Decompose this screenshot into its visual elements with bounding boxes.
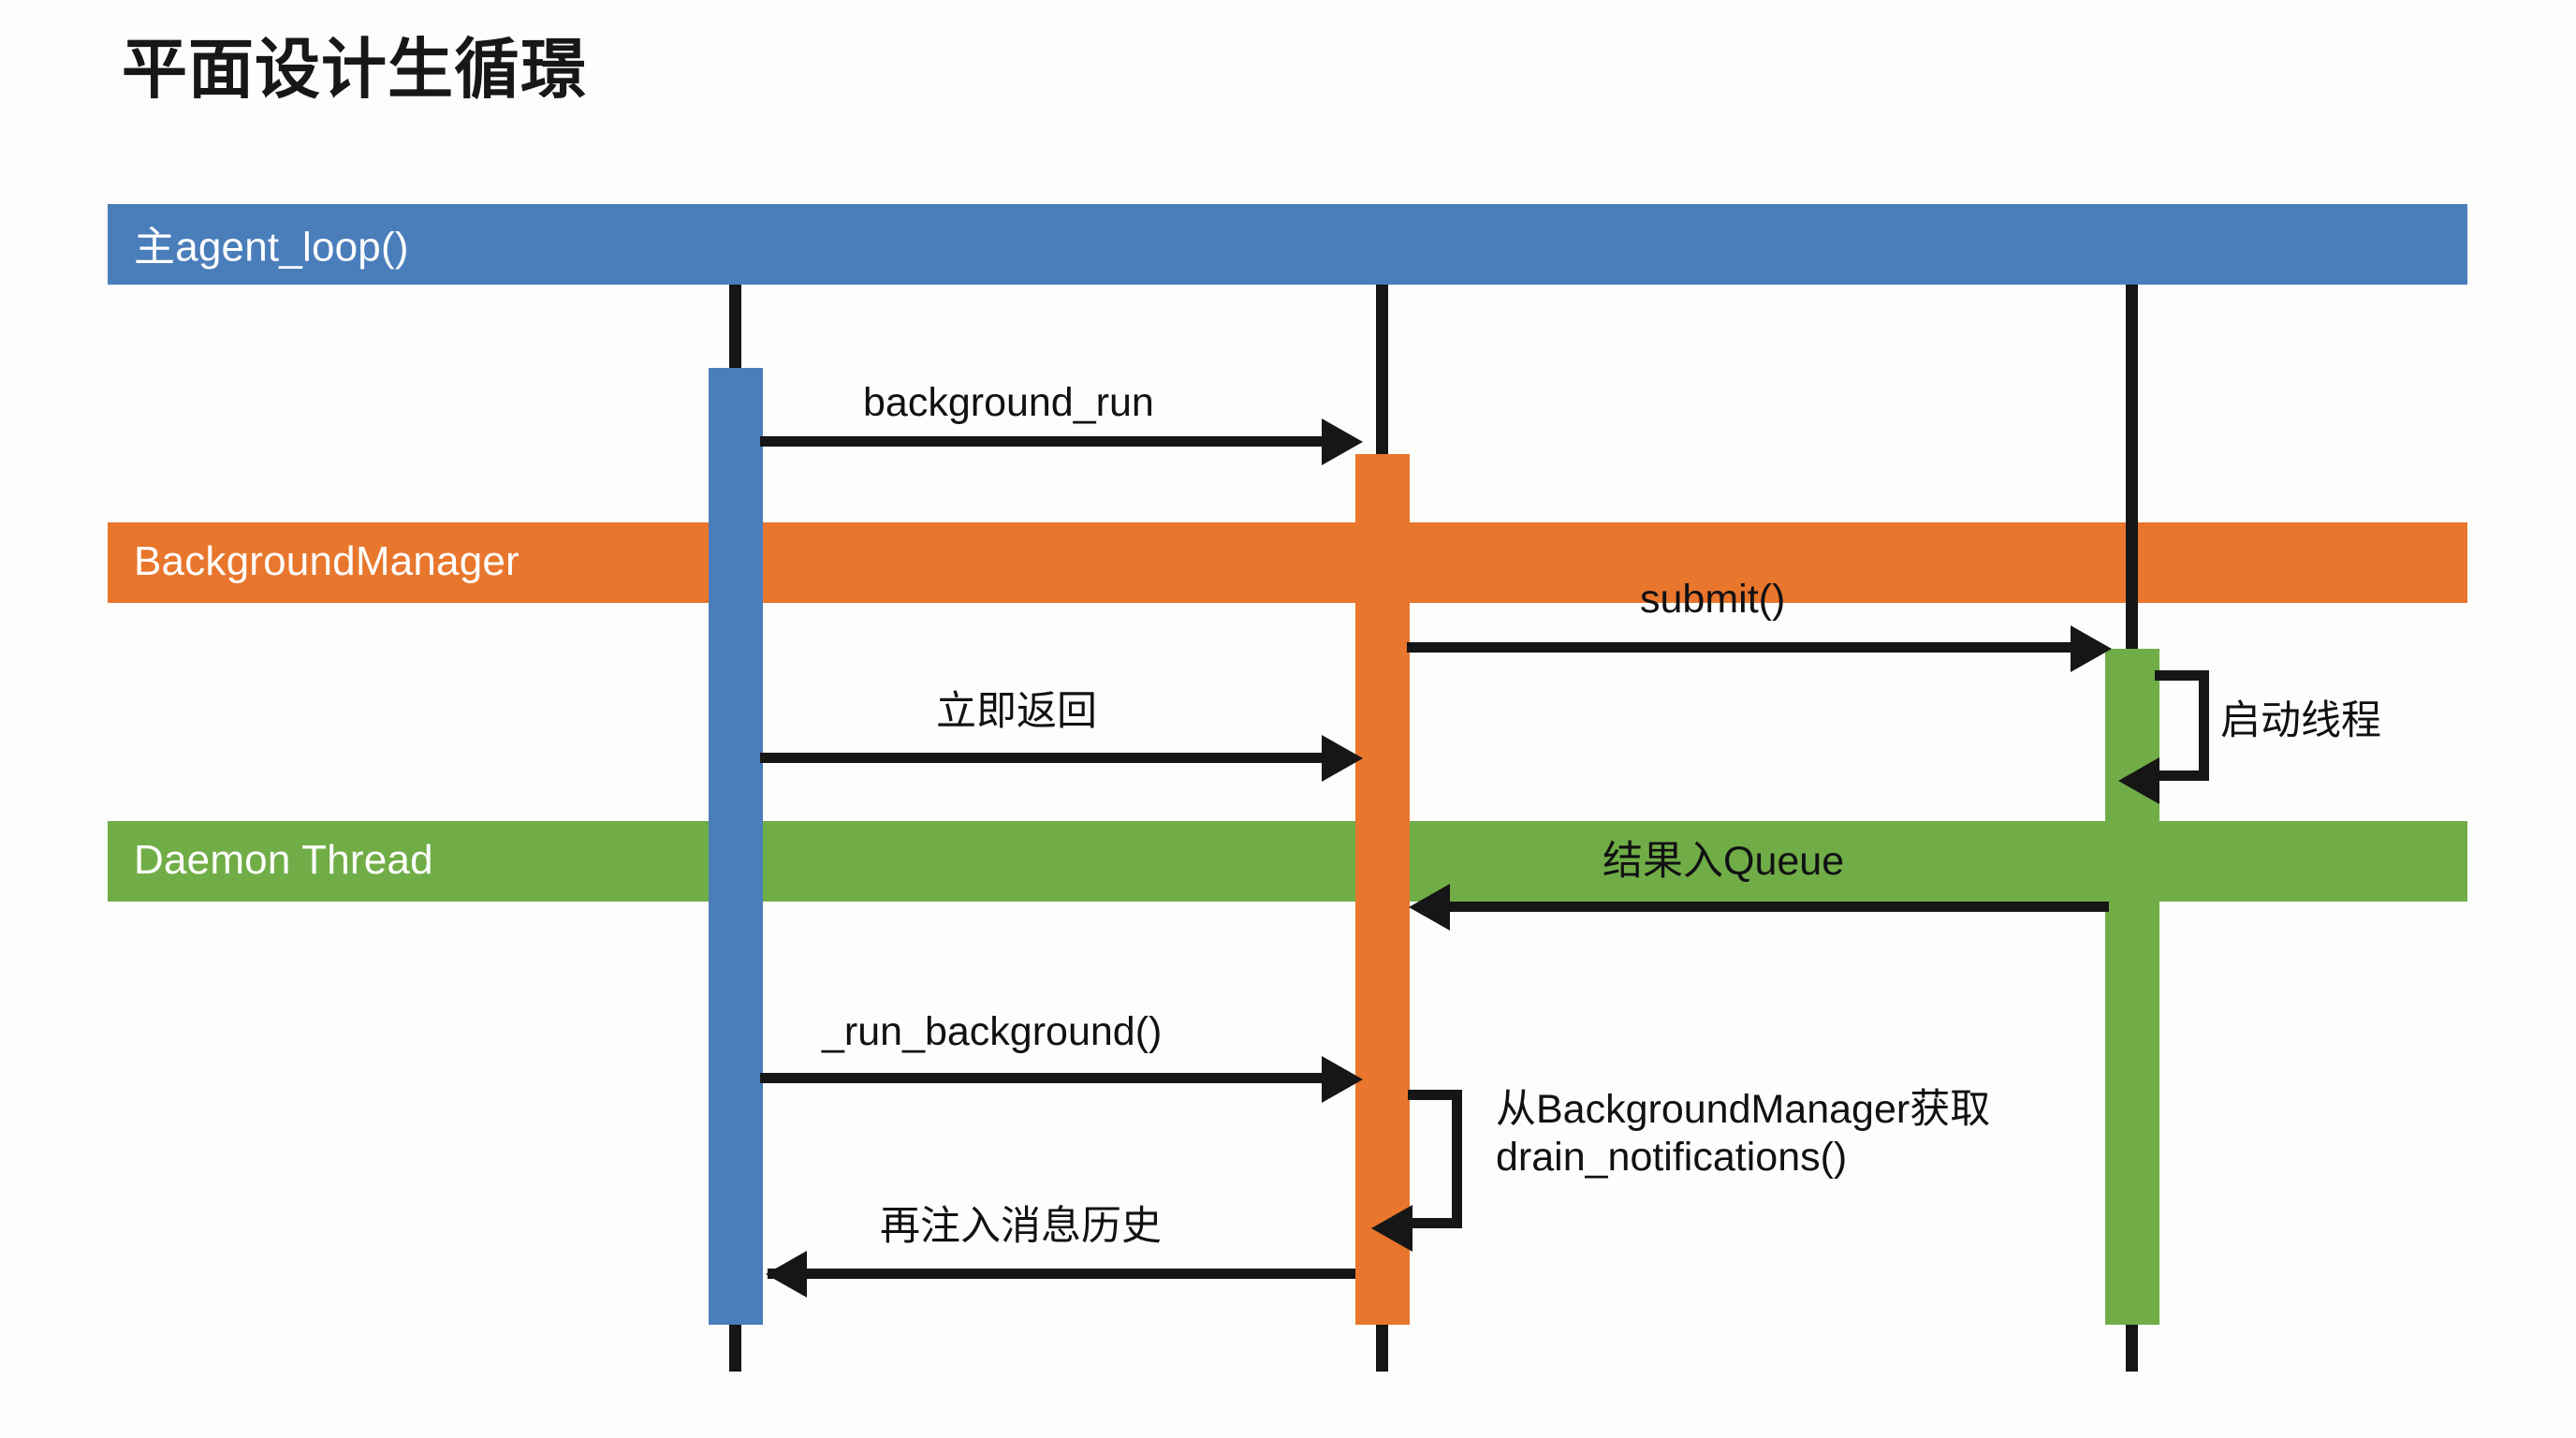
page-title: 平面设计生循璟 [122, 36, 587, 105]
lifeline-daemon-top [2126, 285, 2138, 652]
message-label-return-immediately: 立即返回 [936, 688, 1097, 736]
message-label-reinject-history: 再注入消息历史 [880, 1203, 1162, 1251]
message-arrow-return-immediately [760, 753, 1333, 763]
lane-label-daemon: Daemon Thread [134, 837, 433, 884]
message-arrow-background-run [760, 436, 1333, 447]
activation-bar-main [709, 368, 763, 1325]
lane-background-manager: BackgroundManager [108, 522, 2467, 603]
message-label-drain-notifications: 从BackgroundManager获取 drain_notifications… [1496, 1086, 1990, 1181]
lifeline-main-top [729, 285, 741, 371]
lane-main-agent-loop: 主agent_loop() [108, 204, 2467, 285]
message-label-run-background: _run_background() [822, 1008, 1162, 1056]
lifeline-main-bottom [729, 1325, 741, 1372]
activation-bar-daemon [2105, 649, 2159, 1325]
message-arrowhead-return-immediately [1322, 735, 1363, 782]
message-label-background-run: background_run [863, 379, 1154, 427]
self-call-loop-start-thread [2155, 670, 2209, 781]
message-arrowhead-result-into-queue [1409, 884, 1450, 931]
lane-label-manager: BackgroundManager [134, 538, 520, 585]
message-arrowhead-background-run [1322, 418, 1363, 465]
message-arrowhead-submit [2071, 625, 2112, 672]
activation-bar-manager [1355, 454, 1410, 1325]
message-arrow-result-into-queue [1449, 902, 2109, 912]
message-arrow-run-background [760, 1073, 1333, 1083]
lane-label-main: 主agent_loop() [134, 213, 409, 273]
lifeline-manager-bottom [1376, 1325, 1388, 1372]
message-arrowhead-reinject-history [766, 1251, 807, 1298]
message-arrowhead-run-background [1322, 1056, 1363, 1103]
message-arrow-submit [1407, 642, 2081, 653]
self-call-arrowhead-start-thread [2118, 757, 2159, 804]
lifeline-daemon-bottom [2126, 1325, 2138, 1372]
sequence-diagram-canvas: 平面设计生循璟 主agent_loop() BackgroundManager … [0, 0, 2576, 1438]
message-label-start-thread: 启动线程 [2220, 697, 2381, 745]
lifeline-manager-top [1376, 285, 1388, 457]
message-label-result-into-queue: 结果入Queue [1603, 838, 1844, 886]
message-arrow-reinject-history [768, 1269, 1355, 1279]
self-call-arrowhead-drain-notifications [1371, 1205, 1412, 1252]
self-call-loop-drain-notifications [1408, 1090, 1462, 1228]
message-label-submit: submit() [1640, 576, 1785, 624]
